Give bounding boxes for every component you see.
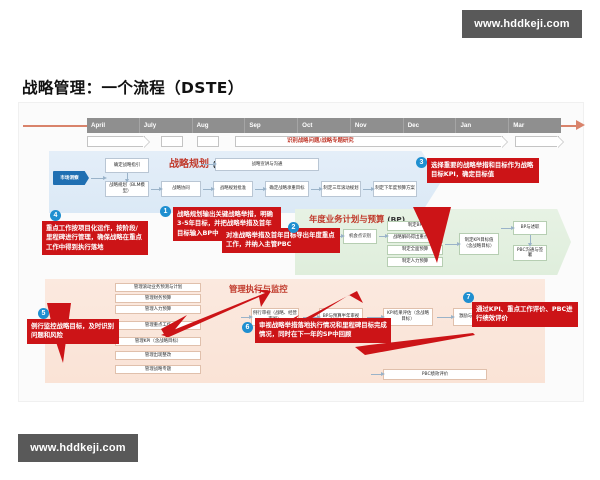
callout-badge-7[interactable]: 7 (463, 292, 474, 303)
timeline-arrow-icon (576, 120, 585, 130)
sp-box-strategy-communication[interactable]: 战略宣讲与沟通 (215, 158, 319, 171)
callout-badge-3[interactable]: 3 (416, 157, 427, 168)
callout-4[interactable]: 重点工作按项目化运作，按阶段/里程碑进行管理，确保战略在重点工作中得到执行落地 (42, 221, 148, 255)
bp-box-bp-report[interactable]: BP与述职 (513, 221, 547, 235)
sp-box-strategy-planning-blm[interactable]: 战略规划（BLM模型） (105, 181, 149, 197)
timeline-month: Sep (245, 118, 298, 133)
callout-7[interactable]: 通过KPI、重点工作评价、PBC进行绩效评价 (472, 302, 578, 327)
timeline-phase-row: 识别战略问题/战略专题研究 (87, 136, 571, 149)
timeline-month: Jan (456, 118, 509, 133)
sp-box-confirm-commit-target[interactable]: 确定战略承重目标 (265, 181, 309, 197)
bp-box-kpi-target-value[interactable]: 制定KPI目标值（含战略目标） (459, 233, 499, 255)
bp-box-opportunity-identification[interactable]: 机会点识别 (343, 229, 377, 244)
connector (437, 317, 451, 318)
timeline-month: April (87, 118, 140, 133)
callout-badge-6[interactable]: 6 (242, 322, 253, 333)
timeline-phase-box (515, 136, 559, 147)
timeline-month: July (140, 118, 193, 133)
timeline-month: Nov (351, 118, 404, 133)
timeline-month: Aug (193, 118, 246, 133)
timeline-month: Dec (404, 118, 457, 133)
slide-page: www.hddkeji.com www.hddkeji.com 战略管理：一个流… (0, 0, 600, 480)
sp-box-strategy-guideline[interactable]: 确定战略指引 (105, 158, 149, 173)
timeline-month: Oct (298, 118, 351, 133)
connector (201, 164, 213, 165)
connector (91, 178, 103, 179)
sp-box-strategy-alignment[interactable]: 战略协同 (161, 181, 201, 197)
callout-3[interactable]: 选择重要的战略举措和目标作为战略目标KPI，确定目标值 (427, 158, 539, 183)
timeline-phase-box (197, 136, 219, 147)
exec-item-kpi[interactable]: 管理KPI（含战略目标） (115, 337, 201, 346)
chip-market-insight[interactable]: 市场洞察 (53, 171, 89, 185)
connector (311, 189, 319, 190)
callout-badge-1[interactable]: 1 (160, 206, 171, 217)
timeline-research-label: 识别战略问题/战略专题研究 (287, 136, 354, 147)
page-title: 战略管理：一个流程（DSTE） (22, 76, 244, 98)
connector (371, 374, 381, 375)
watermark-bottom: www.hddkeji.com (18, 434, 138, 462)
connector (255, 189, 263, 190)
callout-badge-4[interactable]: 4 (50, 210, 61, 221)
sp-box-strategy-approval[interactable]: 战略规划批准 (213, 181, 253, 197)
connector (363, 189, 371, 190)
exec-item-strategy-topic[interactable]: 管理战略专题 (115, 365, 201, 374)
callout-badge-5[interactable]: 5 (38, 308, 49, 319)
timeline-month-bar: April July Aug Sep Oct Nov Dec Jan Mar (87, 118, 561, 133)
timeline-phase-box (87, 136, 145, 147)
connector (530, 235, 531, 243)
bp-box-pbc-sign[interactable]: PBC沟通与签署 (513, 245, 547, 261)
band-bp-title-cn: 年度业务计划与预算 (309, 214, 384, 224)
exec-box-pbc-performance-eval[interactable]: PBC绩效评价 (383, 369, 487, 380)
callout-2[interactable]: 对准战略举措及首年目标导出年度重点工作，并纳入主管PBC (222, 228, 340, 253)
connector (127, 173, 128, 179)
timeline-phase-box (161, 136, 183, 147)
timeline-month: Mar (509, 118, 561, 133)
timeline: April July Aug Sep Oct Nov Dec Jan Mar 识… (19, 115, 585, 149)
connector (203, 189, 211, 190)
connector (379, 236, 385, 237)
sp-box-three-year-rolling-plan[interactable]: 制定三年滚动规划 (321, 181, 361, 197)
connector (151, 189, 159, 190)
exec-item-issue-rectify[interactable]: 管理出现整改 (115, 351, 201, 360)
callout-6[interactable]: 审视战略举措落地执行情况和里程碑目标完成情况，同时在下一年的SP中回顾 (255, 318, 391, 343)
callout-badge-2[interactable]: 2 (288, 222, 299, 233)
timeline-research-box (235, 136, 503, 147)
connector (501, 228, 511, 229)
pointer-arrow-3-icon (411, 207, 455, 265)
sp-box-next-year-budget-plan[interactable]: 制定下年度预算方案 (373, 181, 417, 197)
callout-5[interactable]: 例行监控战略目标，及时识别问题和风险 (27, 319, 119, 344)
watermark-top: www.hddkeji.com (462, 10, 582, 38)
